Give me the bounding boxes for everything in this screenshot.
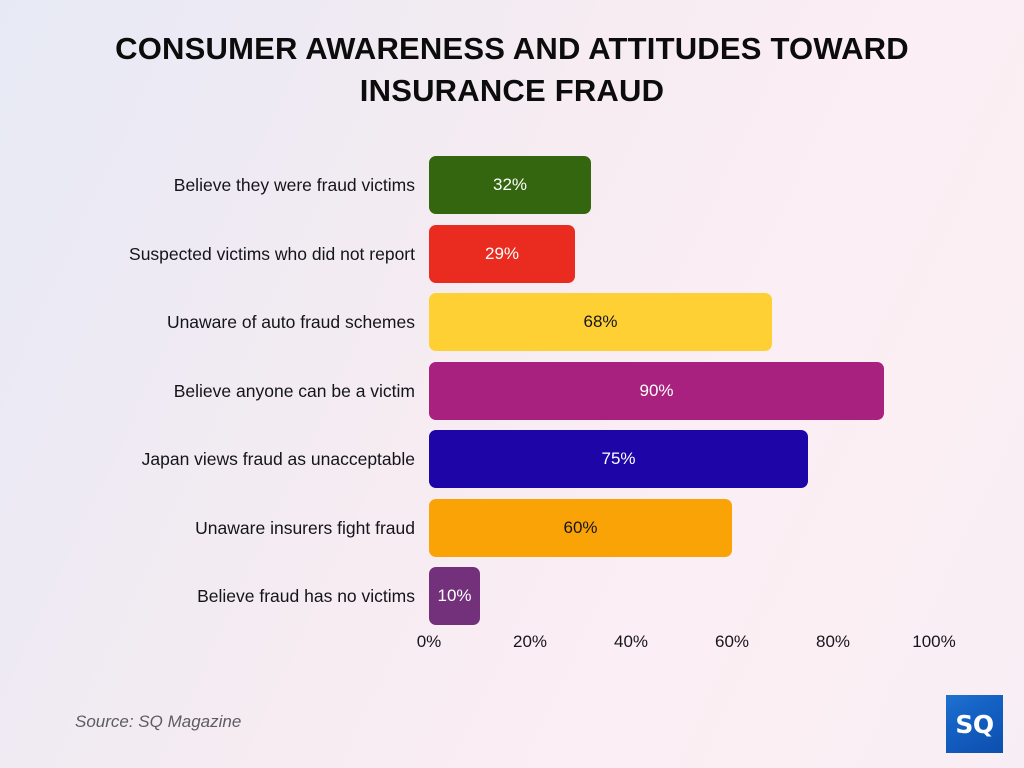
bar-value-label: 60%	[429, 518, 732, 538]
bar-row: Unaware of auto fraud schemes68%	[0, 293, 1024, 351]
x-axis-tick-label: 80%	[788, 632, 878, 652]
bar-row: Believe fraud has no victims10%	[0, 567, 1024, 625]
source-attribution: Source: SQ Magazine	[75, 712, 241, 732]
bar-value-label: 68%	[429, 312, 772, 332]
category-label: Unaware insurers fight fraud	[40, 499, 415, 557]
category-label: Believe fraud has no victims	[40, 567, 415, 625]
bar-value-label: 10%	[429, 586, 480, 606]
category-label: Believe they were fraud victims	[40, 156, 415, 214]
bar-row: Believe they were fraud victims32%	[0, 156, 1024, 214]
category-label: Japan views fraud as unacceptable	[40, 430, 415, 488]
x-axis-tick-label: 60%	[687, 632, 777, 652]
bar-row: Believe anyone can be a victim90%	[0, 362, 1024, 420]
sq-magazine-logo: SQ	[946, 695, 1003, 753]
bar-row: Japan views fraud as unacceptable75%	[0, 430, 1024, 488]
category-label: Believe anyone can be a victim	[40, 362, 415, 420]
bar[interactable]: 32%	[429, 156, 591, 214]
bar[interactable]: 75%	[429, 430, 808, 488]
chart-canvas: CONSUMER AWARENESS AND ATTITUDES TOWARD …	[0, 0, 1024, 768]
bar-row: Suspected victims who did not report29%	[0, 225, 1024, 283]
plot-area: Believe they were fraud victims32%Suspec…	[0, 0, 1024, 768]
bar[interactable]: 10%	[429, 567, 480, 625]
category-label: Unaware of auto fraud schemes	[40, 293, 415, 351]
x-axis-tick-label: 0%	[384, 632, 474, 652]
bar[interactable]: 60%	[429, 499, 732, 557]
category-label: Suspected victims who did not report	[40, 225, 415, 283]
x-axis-tick-label: 100%	[889, 632, 979, 652]
bar[interactable]: 29%	[429, 225, 575, 283]
bar-value-label: 90%	[429, 381, 884, 401]
bar-value-label: 29%	[429, 244, 575, 264]
x-axis-tick-label: 20%	[485, 632, 575, 652]
bar-value-label: 32%	[429, 175, 591, 195]
x-axis-tick-label: 40%	[586, 632, 676, 652]
bar-row: Unaware insurers fight fraud60%	[0, 499, 1024, 557]
bar[interactable]: 68%	[429, 293, 772, 351]
bar-value-label: 75%	[429, 449, 808, 469]
bar[interactable]: 90%	[429, 362, 884, 420]
logo-text: SQ	[955, 710, 993, 739]
